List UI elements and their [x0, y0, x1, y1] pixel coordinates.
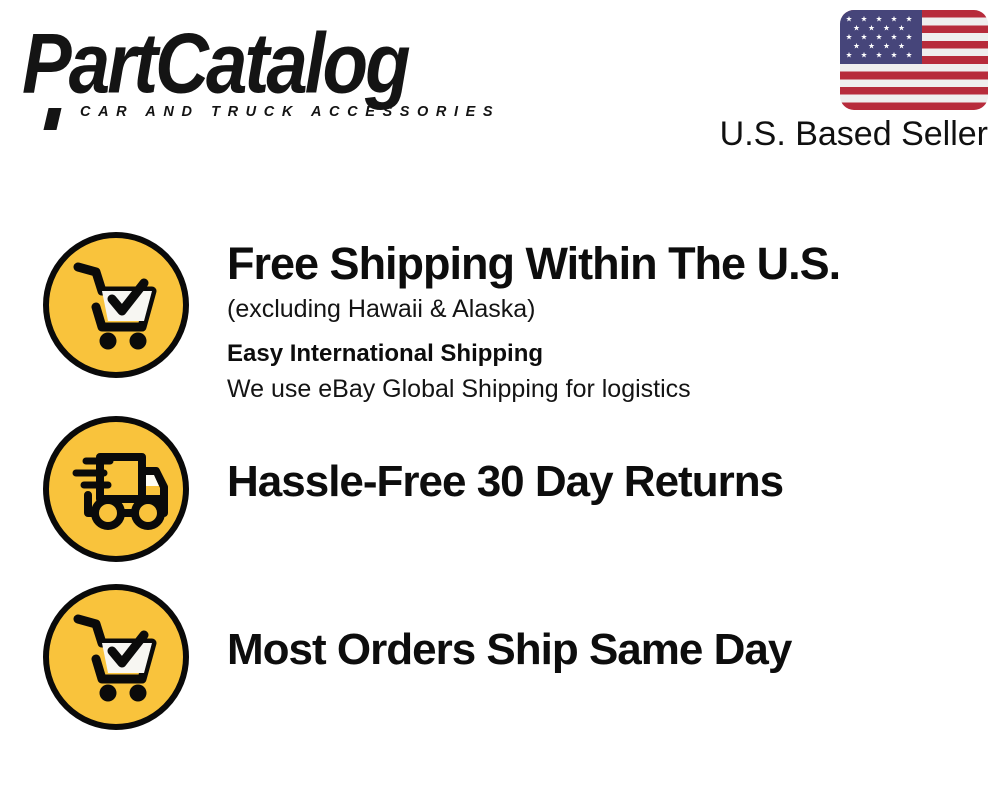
us-flag-icon — [840, 10, 988, 110]
truck-glyph — [64, 447, 168, 531]
feature-row: Free Shipping Within The U.S. (excluding… — [0, 232, 1000, 406]
seller-badge-label: U.S. Based Seller — [718, 114, 988, 154]
cart-check-glyph — [66, 609, 166, 705]
cart-check-glyph — [66, 257, 166, 353]
feature-row: Hassle-Free 30 Day Returns — [0, 416, 1000, 562]
shopping-cart-check-icon — [43, 232, 189, 378]
feature-subtext-strong: Easy International Shipping — [227, 338, 1000, 370]
brand-wordmark: PartCatalog — [22, 22, 483, 107]
feature-headline: Free Shipping Within The U.S. — [227, 238, 1000, 290]
feature-text-block: Hassle-Free 30 Day Returns — [227, 416, 1000, 508]
feature-subtext-secondary: We use eBay Global Shipping for logistic… — [227, 372, 1000, 406]
delivery-truck-icon — [43, 416, 189, 562]
brand-logo: PartCatalog CAR AND TRUCK ACCESSORIES — [22, 22, 492, 120]
feature-text-block: Most Orders Ship Same Day — [227, 584, 1000, 676]
flag-stars — [840, 10, 922, 64]
shopping-cart-check-icon — [43, 584, 189, 730]
feature-headline: Hassle-Free 30 Day Returns — [227, 456, 1000, 508]
feature-row: Most Orders Ship Same Day — [0, 584, 1000, 730]
feature-subtext: (excluding Hawaii & Alaska) — [227, 292, 1000, 326]
banner-page: PartCatalog CAR AND TRUCK ACCESSORIES — [0, 0, 1000, 800]
feature-headline: Most Orders Ship Same Day — [227, 624, 1000, 676]
us-based-seller-badge: U.S. Based Seller — [718, 10, 988, 154]
feature-text-block: Free Shipping Within The U.S. (excluding… — [227, 232, 1000, 406]
